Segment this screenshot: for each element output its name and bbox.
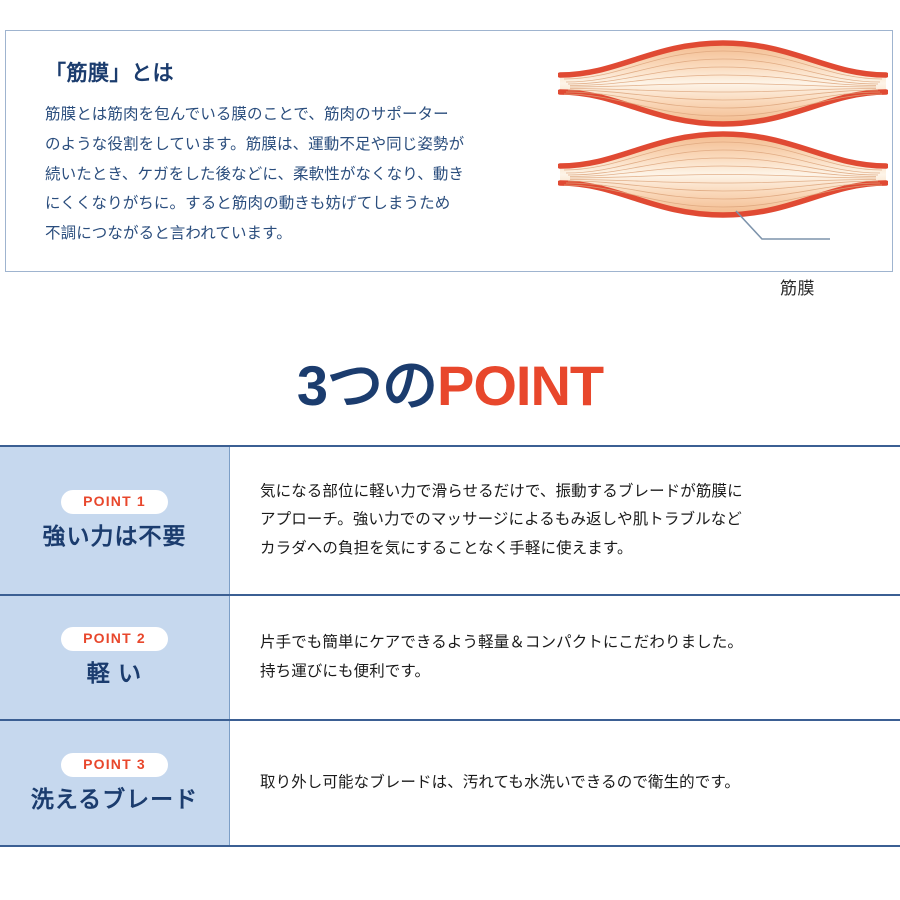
muscle-belly-upper bbox=[560, 43, 886, 124]
point-label-cell: POINT 1 強い力は不要 bbox=[0, 447, 230, 594]
status-badge: POINT 1 bbox=[61, 490, 168, 514]
table-row: POINT 1 強い力は不要 気になる部位に軽い力で滑らせるだけで、振動するブレ… bbox=[0, 447, 900, 596]
points-heading-en: POINT bbox=[437, 354, 603, 417]
status-badge: POINT 3 bbox=[61, 753, 168, 777]
point-description-cell: 取り外し可能なブレードは、汚れても水洗いできるので衛生的です。 bbox=[230, 721, 900, 845]
points-heading-jp: 3つの bbox=[297, 354, 437, 417]
fascia-text-column: 「筋膜」とは 筋膜とは筋肉を包んでいる膜のことで、筋肉のサポーター のような役割… bbox=[45, 61, 545, 249]
points-heading: 3つのPOINT bbox=[0, 358, 900, 414]
table-row: POINT 2 軽 い 片手でも簡単にケアできるよう軽量＆コンパクトにこだわりま… bbox=[0, 596, 900, 721]
muscle-belly-lower bbox=[560, 134, 886, 215]
points-table: POINT 1 強い力は不要 気になる部位に軽い力で滑らせるだけで、振動するブレ… bbox=[0, 445, 900, 847]
point-description: 取り外し可能なブレードは、汚れても水洗いできるので衛生的です。 bbox=[260, 769, 740, 797]
point-title: 軽 い bbox=[87, 660, 142, 688]
fascia-info-box: 「筋膜」とは 筋膜とは筋肉を包んでいる膜のことで、筋肉のサポーター のような役割… bbox=[5, 30, 893, 272]
fascia-illustration-label: 筋膜 bbox=[780, 274, 815, 299]
point-label-cell: POINT 3 洗えるブレード bbox=[0, 721, 230, 845]
point-description: 片手でも簡単にケアできるよう軽量＆コンパクトにこだわりました。 持ち運びにも便利… bbox=[260, 629, 743, 685]
point-title: 洗えるブレード bbox=[31, 786, 198, 814]
status-badge: POINT 2 bbox=[61, 627, 168, 651]
fascia-heading: 「筋膜」とは bbox=[45, 61, 545, 86]
fascia-body-text: 筋膜とは筋肉を包んでいる膜のことで、筋肉のサポーター のような役割をしています。… bbox=[45, 100, 545, 249]
point-description-cell: 気になる部位に軽い力で滑らせるだけで、振動するブレードが筋膜に アプローチ。強い… bbox=[230, 447, 900, 594]
point-description-cell: 片手でも簡単にケアできるよう軽量＆コンパクトにこだわりました。 持ち運びにも便利… bbox=[230, 596, 900, 719]
point-description: 気になる部位に軽い力で滑らせるだけで、振動するブレードが筋膜に アプローチ。強い… bbox=[260, 478, 743, 563]
point-title: 強い力は不要 bbox=[43, 523, 187, 551]
point-label-cell: POINT 2 軽 い bbox=[0, 596, 230, 719]
muscle-fascia-illustration bbox=[558, 39, 888, 269]
table-row: POINT 3 洗えるブレード 取り外し可能なブレードは、汚れても水洗いできるの… bbox=[0, 721, 900, 845]
